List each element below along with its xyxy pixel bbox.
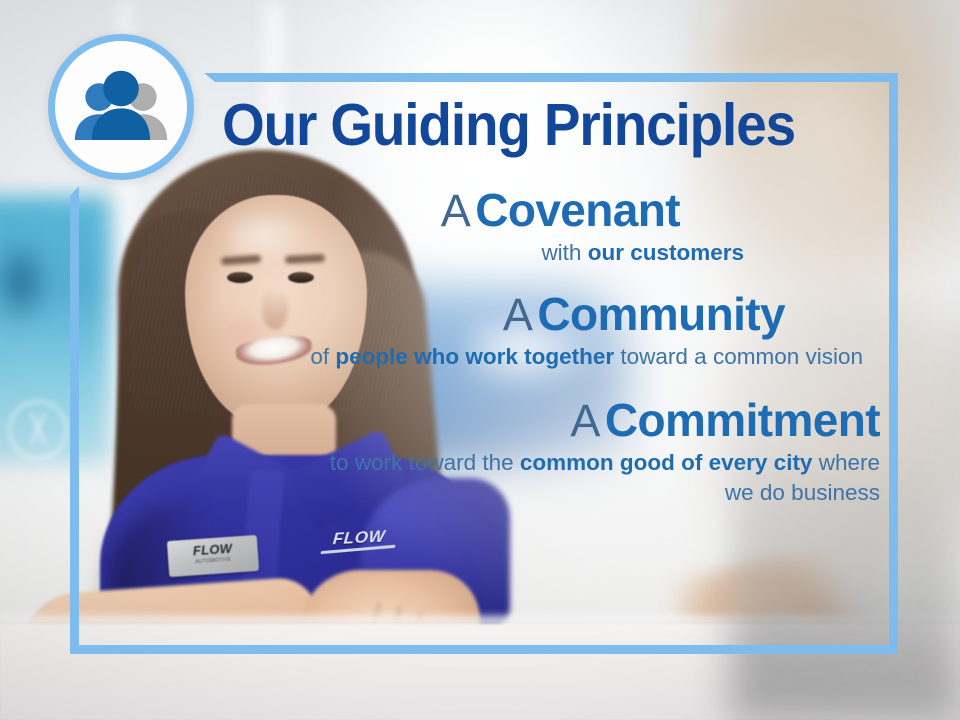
principle-heading: A Community: [300, 290, 785, 338]
guiding-principles-poster: FLOW FLOW AUTOMOTIVE: [0, 0, 960, 720]
subtext-part: of: [310, 344, 335, 369]
frame-left-border: [70, 196, 79, 654]
principle-subtext: of people who work together toward a com…: [300, 342, 863, 372]
frame-bottom-border: [70, 645, 898, 654]
principles-list: A Covenant with our customers A Communit…: [300, 186, 880, 526]
subtext-part-bold: people who work together: [335, 344, 614, 369]
principle-article: A: [441, 185, 471, 236]
principle-subtext: with our customers: [300, 238, 744, 268]
subtext-part-bold: common good of every city: [520, 450, 813, 475]
principle-article: A: [570, 395, 600, 446]
principle-word: Covenant: [475, 184, 680, 236]
principle-article: A: [503, 289, 533, 340]
subtext-part: with: [541, 240, 587, 265]
people-icon-badge: [48, 34, 194, 180]
subtext-part: toward a common vision: [614, 344, 863, 369]
people-group-icon: [55, 41, 187, 173]
principle-word: Commitment: [605, 394, 880, 446]
frame-top-border: [215, 73, 898, 82]
principle-commitment: A Commitment to work toward the common g…: [300, 396, 880, 508]
principle-community: A Community of people who work together …: [300, 290, 785, 372]
page-title: Our Guiding Principles: [222, 96, 817, 155]
principle-subtext: to work toward the common good of every …: [300, 448, 880, 507]
principle-heading: A Covenant: [300, 186, 680, 234]
principle-heading: A Commitment: [300, 396, 880, 444]
subtext-part: to work toward the: [330, 450, 520, 475]
subtext-part-bold: our customers: [588, 240, 744, 265]
principle-word: Community: [537, 288, 785, 340]
principle-covenant: A Covenant with our customers: [300, 186, 680, 268]
frame-right-border: [889, 73, 898, 654]
